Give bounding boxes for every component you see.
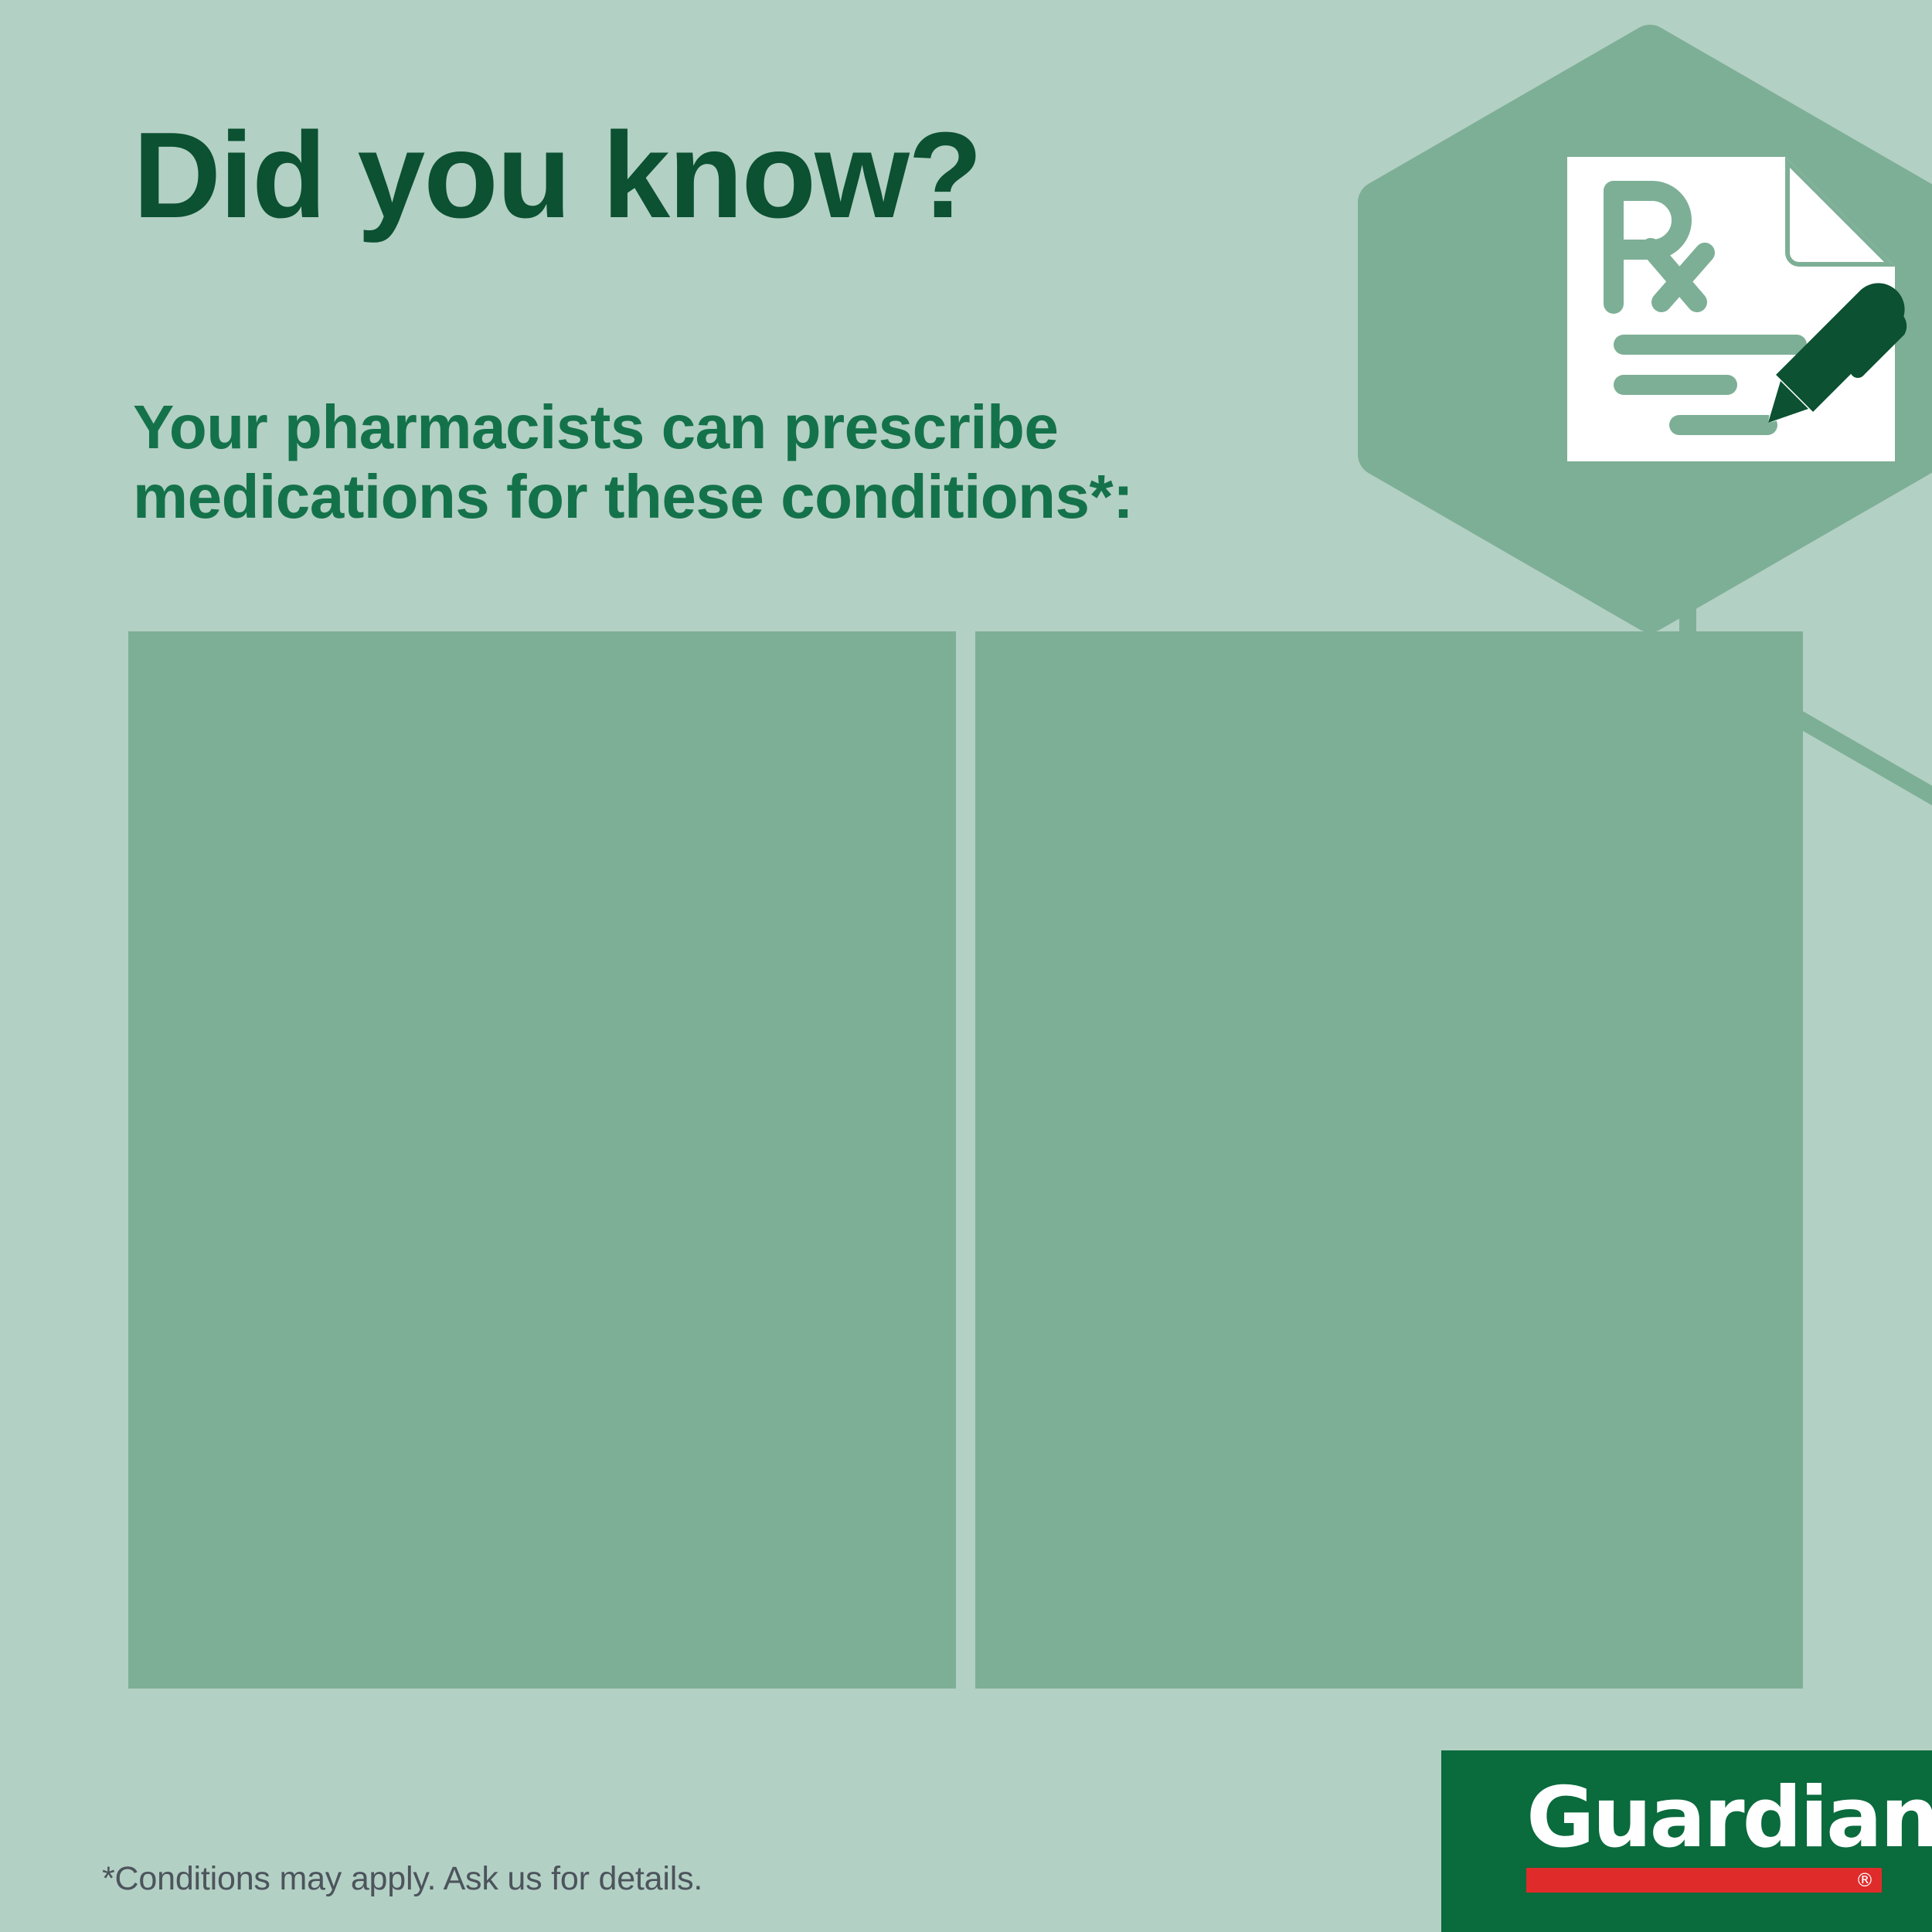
- brand-wordmark: Guardian: [1526, 1777, 1932, 1860]
- page-subtitle-line-2: medications for these conditions*:: [133, 462, 1338, 532]
- disclaimer-text: *Conditions may apply. Ask us for detail…: [102, 1859, 702, 1900]
- brand-logo: Guardian ®: [1441, 1750, 1932, 1932]
- conditions-panel-left: [128, 631, 956, 1689]
- promo-poster: Did you know? Your pharmacists can presc…: [0, 0, 1932, 1932]
- page-subtitle: Your pharmacists can prescribe medicatio…: [133, 393, 1338, 531]
- document-line-1: [1614, 335, 1807, 355]
- document-line-2: [1614, 375, 1737, 395]
- prescription-icon: [1553, 143, 1909, 475]
- conditions-panel-right: [975, 631, 1803, 1689]
- conditions-panel-group: [128, 631, 1803, 1689]
- page-subtitle-line-1: Your pharmacists can prescribe: [133, 393, 1338, 462]
- page-title: Did you know?: [133, 114, 1447, 236]
- brand-underline-bar: ®: [1526, 1868, 1882, 1893]
- document-signature-line: [1669, 415, 1777, 435]
- registered-trademark-icon: ®: [1855, 1869, 1874, 1892]
